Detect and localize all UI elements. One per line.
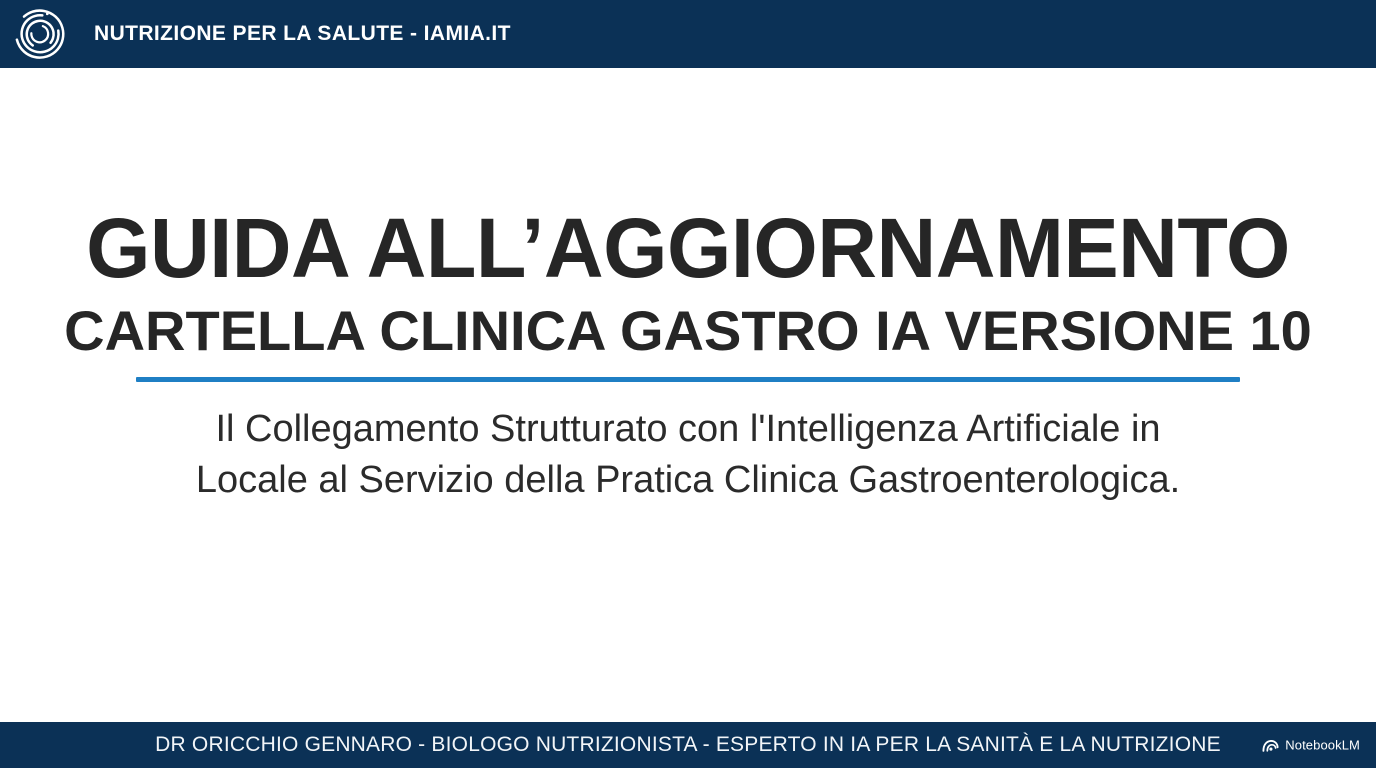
notebooklm-badge: NotebookLM [1262,738,1360,753]
slide-content: GUIDA ALL’AGGIORNAMENTO CARTELLA CLINICA… [0,68,1376,722]
presentation-slide: NUTRIZIONE PER LA SALUTE - IAMIA.IT GUID… [0,0,1376,768]
notebooklm-arc-icon [1262,738,1279,752]
page-subtitle: CARTELLA CLINICA GASTRO IA VERSIONE 10 [0,303,1376,359]
page-title: GUIDA ALL’AGGIORNAMENTO [10,208,1365,289]
footer-credit-text: DR ORICCHIO GENNARO - BIOLOGO NUTRIZIONI… [155,733,1221,757]
accent-divider [136,377,1240,382]
brand-logo [12,6,68,62]
slide-description: Il Collegamento Strutturato con l'Intell… [158,404,1218,507]
header-title: NUTRIZIONE PER LA SALUTE - IAMIA.IT [94,22,511,46]
header-bar: NUTRIZIONE PER LA SALUTE - IAMIA.IT [0,0,1376,68]
notebooklm-label: NotebookLM [1285,738,1360,753]
title-block: GUIDA ALL’AGGIORNAMENTO CARTELLA CLINICA… [0,208,1376,507]
footer-bar: DR ORICCHIO GENNARO - BIOLOGO NUTRIZIONI… [0,722,1376,768]
